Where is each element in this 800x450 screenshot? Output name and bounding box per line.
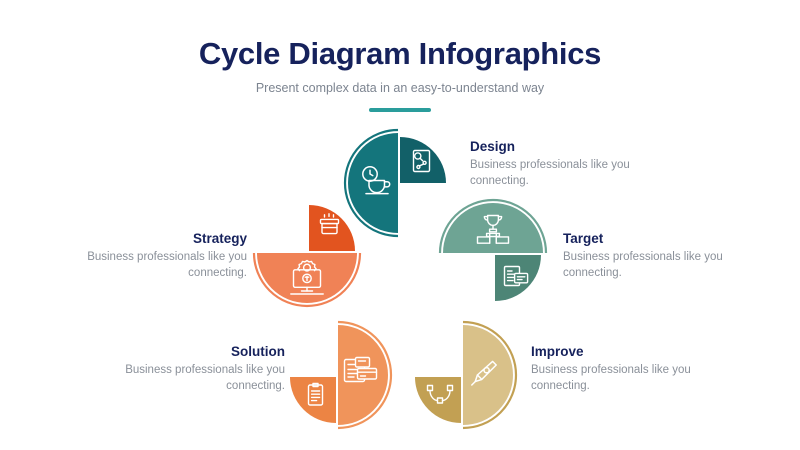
improve-disc: [413, 325, 513, 425]
label-solution: Solution Business professionals like you…: [100, 343, 285, 394]
solution-disc: [288, 325, 388, 425]
strategy-disc: [257, 203, 357, 303]
solution-desc: Business professionals like you connecti…: [100, 363, 285, 394]
design-disc: [348, 133, 448, 233]
trophy-podium-icon: [474, 212, 512, 248]
strategy-desc: Business professionals like you connecti…: [62, 250, 247, 281]
label-target: Target Business professionals like you c…: [563, 230, 748, 281]
design-title: Design: [470, 138, 655, 156]
monitor-gear-icon: [287, 259, 327, 297]
document-chart-icon: [408, 147, 434, 175]
improve-desc: Business professionals like you connecti…: [531, 363, 716, 394]
title-divider: [369, 108, 431, 112]
page-subtitle: Present complex data in an easy-to-under…: [0, 80, 800, 96]
target-title: Target: [563, 230, 748, 248]
target-desc: Business professionals like you connecti…: [563, 250, 748, 281]
label-design: Design Business professionals like you c…: [470, 138, 655, 189]
label-strategy: Strategy Business professionals like you…: [62, 230, 247, 281]
pen-nib-icon: [467, 357, 501, 391]
infographic-slide: Cycle Diagram Infographics Present compl…: [0, 0, 800, 450]
header: Cycle Diagram Infographics Present compl…: [0, 34, 800, 112]
design-desc: Business professionals like you connecti…: [470, 158, 655, 189]
improve-title: Improve: [531, 343, 716, 361]
strategy-title: Strategy: [62, 230, 247, 248]
anchor-points-icon: [425, 383, 455, 407]
cards-stack-icon: [342, 355, 380, 389]
label-improve: Improve Business professionals like you …: [531, 343, 716, 394]
document-card-icon: [501, 263, 531, 291]
clipboard-icon: [304, 381, 328, 409]
page-title: Cycle Diagram Infographics: [0, 34, 800, 74]
target-disc: [443, 203, 543, 303]
coffee-clock-icon: [358, 165, 394, 199]
briefcase-icon: [317, 213, 347, 241]
solution-title: Solution: [100, 343, 285, 361]
